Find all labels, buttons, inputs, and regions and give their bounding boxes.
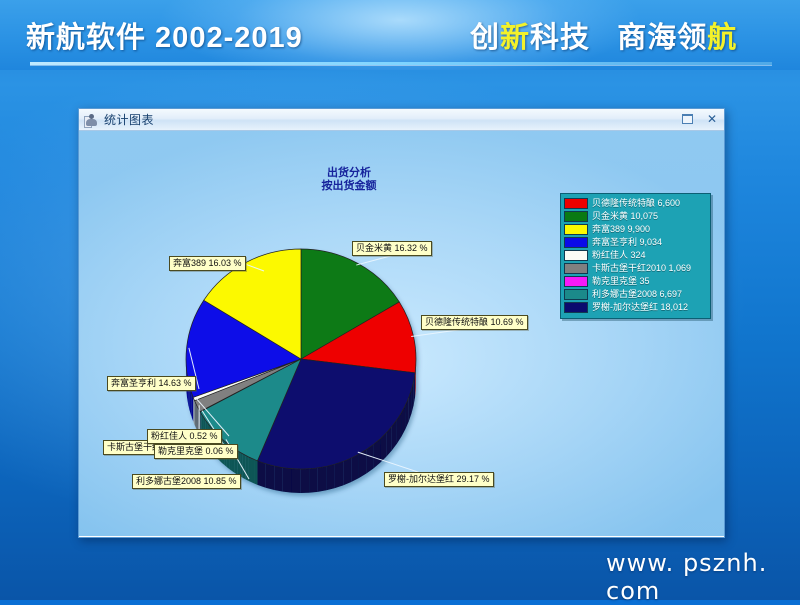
legend-label: 贝德隆传统特酿 6,600 — [592, 198, 680, 208]
callout-bedelong: 贝德隆传统特酿 10.69 % — [421, 315, 528, 330]
callout-lekelikebao: 勒克里克堡 0.06 % — [154, 444, 238, 459]
watermark-url: www. psznh. com — [606, 549, 800, 605]
chart-legend: 贝德隆传统特酿 6,600贝金米黄 10,075奔富389 9,900奔富圣亨利… — [560, 193, 711, 319]
legend-swatch-icon — [564, 211, 588, 222]
legend-label: 奔富圣亨利 9,034 — [592, 237, 662, 247]
callout-luoxie: 罗榭-加尔达堡红 29.17 % — [384, 472, 494, 487]
slogan-highlight-1: 新 — [500, 22, 530, 54]
legend-swatch-icon — [564, 224, 588, 235]
page-header: 新航软件 2002-2019 创新科技 商海领航 — [0, 0, 800, 66]
legend-item: 卡斯古堡干红2010 1,069 — [564, 262, 706, 274]
legend-item: 贝金米黄 10,075 — [564, 210, 706, 222]
callout-beijinmihuang: 贝金米黄 16.32 % — [352, 241, 432, 256]
legend-label: 利多娜古堡2008 6,697 — [592, 289, 682, 299]
header-divider — [30, 62, 772, 65]
legend-item: 勒克里克堡 35 — [564, 275, 706, 287]
legend-label: 贝金米黄 10,075 — [592, 211, 658, 221]
window-title: 统计图表 — [104, 111, 154, 128]
slogan-part-2: 科技 — [530, 22, 590, 54]
legend-item: 贝德隆传统特酿 6,600 — [564, 197, 706, 209]
minimize-button[interactable] — [679, 111, 695, 126]
callout-fenhongjiaren: 粉红佳人 0.52 % — [147, 429, 222, 444]
legend-label: 粉红佳人 324 — [592, 250, 646, 260]
callout-benfu389: 奔富389 16.03 % — [169, 256, 246, 271]
legend-swatch-icon — [564, 302, 588, 313]
chart-canvas: 出货分析 按出货金额 贝金米黄 16.32 % 贝德隆传统特酿 10.69 % … — [79, 131, 724, 536]
statistics-chart-window: 统计图表 ✕ 出货分析 按出货金额 — [78, 108, 725, 538]
close-button[interactable]: ✕ — [704, 111, 720, 126]
legend-swatch-icon — [564, 276, 588, 287]
legend-item: 罗榭-加尔达堡红 18,012 — [564, 301, 706, 313]
window-controls: ✕ — [679, 111, 720, 126]
chart-window-icon — [84, 113, 99, 127]
legend-item: 利多娜古堡2008 6,697 — [564, 288, 706, 300]
slogan-spacer — [590, 22, 617, 54]
legend-item: 奔富389 9,900 — [564, 223, 706, 235]
slogan-part-1: 创 — [470, 22, 500, 54]
window-titlebar[interactable]: 统计图表 ✕ — [79, 109, 724, 131]
window-body: 出货分析 按出货金额 贝金米黄 16.32 % 贝德隆传统特酿 10.69 % … — [79, 131, 724, 536]
legend-swatch-icon — [564, 250, 588, 261]
slogan-part-3: 商海领 — [617, 22, 707, 54]
legend-label: 勒克里克堡 35 — [592, 276, 650, 286]
legend-item: 粉红佳人 324 — [564, 249, 706, 261]
legend-label: 卡斯古堡干红2010 1,069 — [592, 263, 691, 273]
legend-item: 奔富圣亨利 9,034 — [564, 236, 706, 248]
slogan-highlight-2: 航 — [707, 22, 737, 54]
slogan: 创新科技 商海领航 — [470, 14, 737, 56]
legend-swatch-icon — [564, 198, 588, 209]
legend-label: 罗榭-加尔达堡红 18,012 — [592, 302, 688, 312]
legend-swatch-icon — [564, 289, 588, 300]
callout-benfushenghengli: 奔富圣亨利 14.63 % — [107, 376, 196, 391]
legend-label: 奔富389 9,900 — [592, 224, 650, 234]
legend-swatch-icon — [564, 237, 588, 248]
legend-swatch-icon — [564, 263, 588, 274]
brand-title: 新航软件 2002-2019 — [26, 14, 303, 56]
callout-liduonagubao: 利多娜古堡2008 10.85 % — [132, 474, 241, 489]
